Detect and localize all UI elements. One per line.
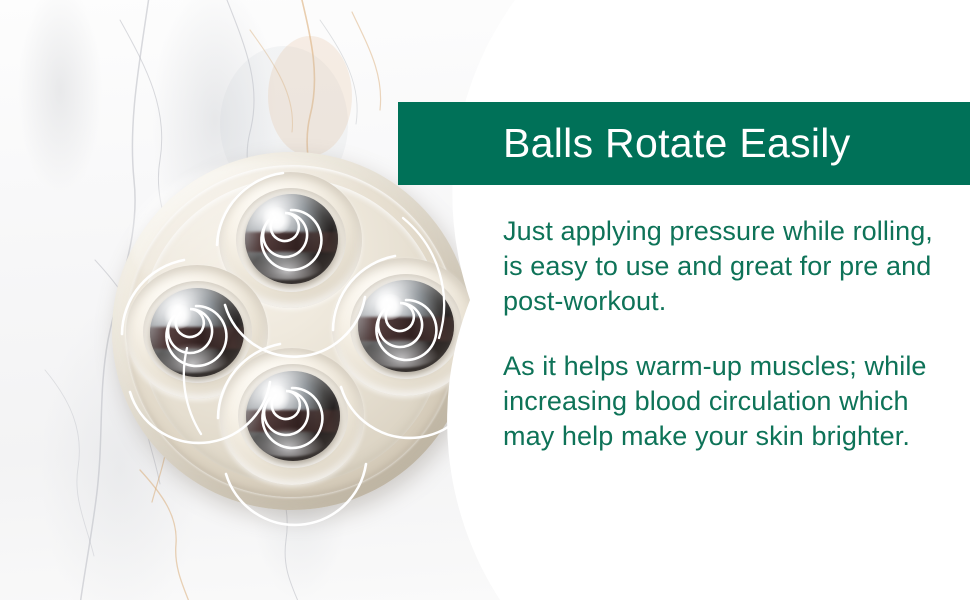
massage-roller-product <box>0 0 560 600</box>
header-banner: Balls Rotate Easily <box>398 102 970 185</box>
description-paragraph-1: Just applying pressure while rolling, is… <box>503 214 955 319</box>
roller-ball-top <box>245 194 338 284</box>
description-text: Just applying pressure while rolling, is… <box>503 214 955 455</box>
page-title: Balls Rotate Easily <box>398 123 851 164</box>
description-paragraph-2: As it helps warm-up muscles; while incre… <box>503 349 955 454</box>
roller-ball-bottom <box>246 371 340 461</box>
product-feature-banner: Balls Rotate Easily Just applying pressu… <box>0 0 970 600</box>
roller-ball-right <box>358 280 454 372</box>
product-photo <box>0 0 560 600</box>
roller-ball-left <box>150 288 244 377</box>
